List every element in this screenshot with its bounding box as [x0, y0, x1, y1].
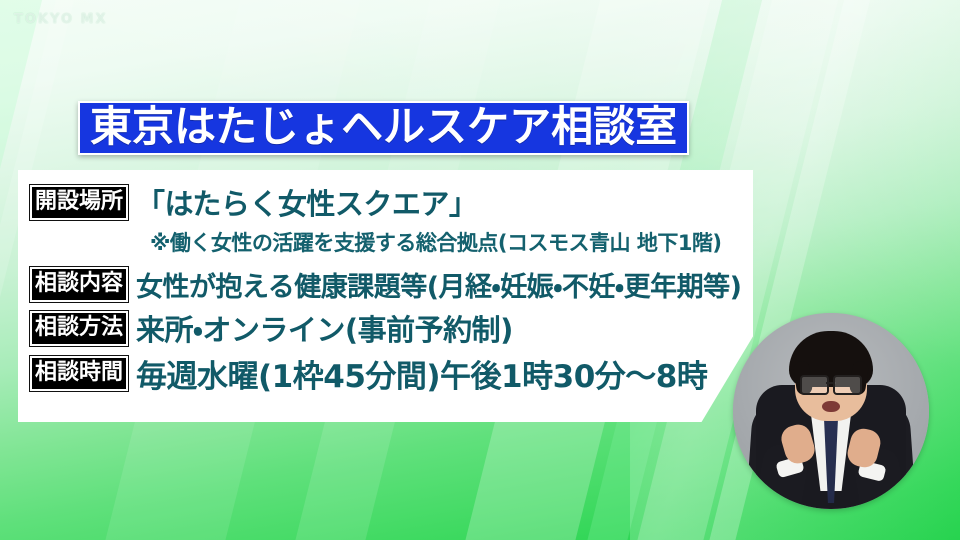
glasses-icon [800, 375, 862, 392]
info-row-tag: 開設場所 [30, 185, 128, 220]
info-row: 相談内容 女性が抱える健康課題等(月経・妊娠・不妊・更年期等) [30, 262, 750, 306]
info-row: 開設場所 「はたらく女性スクエア」 [30, 182, 750, 222]
info-row-value: 女性が抱える健康課題等(月経・妊娠・不妊・更年期等) [136, 265, 741, 304]
glasses-lens-right [833, 375, 862, 395]
info-row-tag: 相談方法 [30, 311, 128, 346]
info-row-value: 来所・オンライン(事前予約制) [136, 307, 513, 349]
channel-watermark: TOKYO MX [14, 12, 107, 27]
info-row-value: 「はたらく女性スクエア」 [136, 181, 477, 223]
sign-language-interpreter-inset [733, 313, 929, 509]
title-banner: 東京はたじょヘルスケア相談室 [78, 101, 689, 155]
glasses-lens-left [800, 375, 829, 395]
info-row-value: 毎週水曜(1枠45分間)午後1時30分〜8時 [136, 351, 707, 396]
broadcast-screen: TOKYO MX 東京はたじょヘルスケア相談室 開設場所 「はたらく女性スクエア… [0, 0, 960, 540]
info-row: 相談時間 毎週水曜(1枠45分間)午後1時30分〜8時 [30, 350, 750, 396]
info-row-note-text: ※働く女性の活躍を支援する総合拠点(コスモス青山 地下1階) [150, 227, 722, 257]
info-row-list: 開設場所 「はたらく女性スクエア」 ※働く女性の活躍を支援する総合拠点(コスモス… [30, 182, 750, 396]
interpreter-mouth [822, 401, 840, 412]
page-title: 東京はたじょヘルスケア相談室 [90, 105, 677, 149]
info-row-note: ※働く女性の活躍を支援する総合拠点(コスモス青山 地下1階) [30, 222, 750, 262]
info-row: 相談方法 来所・オンライン(事前予約制) [30, 306, 750, 350]
info-row-tag: 相談内容 [30, 267, 128, 302]
info-row-tag: 相談時間 [30, 356, 128, 391]
